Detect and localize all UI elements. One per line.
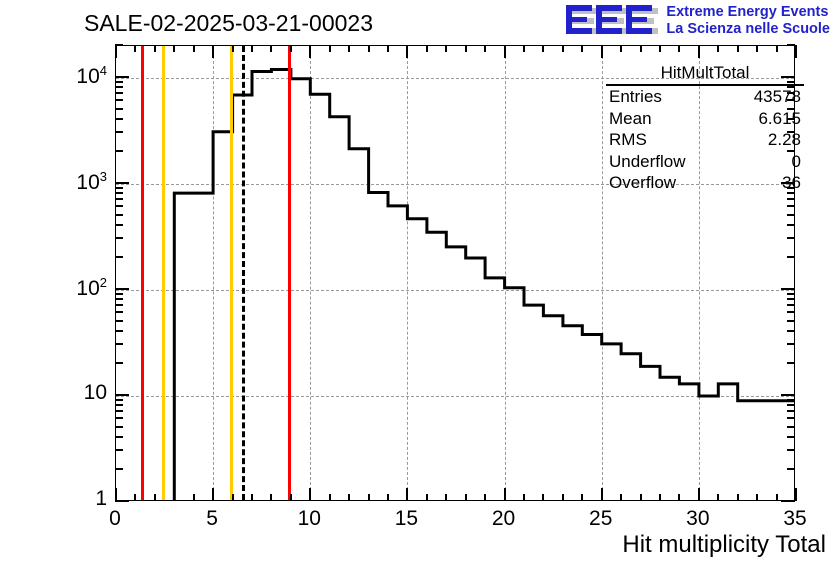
x-tick-minor <box>173 494 175 501</box>
y-tick-minor-right <box>787 404 795 406</box>
x-tick-minor-top <box>678 45 680 52</box>
y-tick-minor <box>115 417 123 419</box>
x-tick-major <box>212 488 214 501</box>
x-tick-major-top <box>406 45 408 58</box>
y-tick-label: 1 <box>95 487 107 511</box>
stats-row-key: RMS <box>609 129 647 151</box>
page-title: SALE-02-2025-03-21-00023 <box>84 10 373 37</box>
x-tick-minor <box>445 494 447 501</box>
y-tick-minor <box>115 436 123 438</box>
x-tick-minor-top <box>368 45 370 52</box>
x-tick-major-top <box>115 45 117 58</box>
stats-row-value: 43578 <box>754 86 801 108</box>
stats-row-value: 36 <box>782 172 801 194</box>
x-tick-minor-top <box>581 45 583 52</box>
x-tick-major-top <box>504 45 506 58</box>
x-tick-minor <box>659 494 661 501</box>
y-tick-label: 102 <box>76 275 107 301</box>
y-tick-minor-right <box>787 304 795 306</box>
stats-row: Mean6.615 <box>606 108 804 130</box>
x-tick-label: 10 <box>298 507 321 531</box>
eee-mark-icon <box>564 3 660 41</box>
y-tick-major <box>115 394 129 396</box>
y-tick-minor-right <box>787 449 795 451</box>
y-tick-major <box>115 182 129 184</box>
y-tick-minor-right <box>787 417 795 419</box>
y-tick-minor <box>115 320 123 322</box>
y-tick-minor <box>115 131 123 133</box>
x-tick-minor-top <box>523 45 525 52</box>
x-tick-minor-top <box>640 45 642 52</box>
stats-row: Underflow0 <box>606 151 804 173</box>
x-tick-major-top <box>698 45 700 58</box>
y-tick-minor <box>115 468 123 470</box>
y-tick-label: 104 <box>76 63 107 89</box>
y-tick-minor <box>115 214 123 216</box>
x-tick-major-top <box>601 45 603 58</box>
y-tick-minor <box>115 330 123 332</box>
x-tick-minor <box>562 494 564 501</box>
y-tick-minor <box>115 237 123 239</box>
y-tick-minor <box>115 399 123 401</box>
stats-row-key: Overflow <box>609 172 676 194</box>
y-tick-major <box>115 76 129 78</box>
y-tick-minor <box>115 86 123 88</box>
x-tick-minor-top <box>290 45 292 52</box>
marker-line-upper-red-cut <box>288 46 291 500</box>
x-tick-minor <box>193 494 195 501</box>
x-tick-minor-top <box>193 45 195 52</box>
stats-histogram-name: HitMultTotal <box>606 63 804 86</box>
x-tick-minor-top <box>562 45 564 52</box>
y-tick-minor <box>115 410 123 412</box>
x-tick-label: 30 <box>686 507 709 531</box>
y-tick-minor-right <box>787 298 795 300</box>
x-tick-minor-top <box>348 45 350 52</box>
x-tick-minor <box>776 494 778 501</box>
eee-logo-line1: Extreme Energy Events <box>666 4 830 21</box>
y-tick-major <box>115 288 129 290</box>
y-tick-label: 103 <box>76 169 107 195</box>
x-tick-label: 25 <box>589 507 612 531</box>
y-tick-minor <box>115 192 123 194</box>
x-tick-minor <box>368 494 370 501</box>
stats-row-key: Underflow <box>609 151 686 173</box>
x-tick-minor-top <box>270 45 272 52</box>
y-tick-minor <box>115 256 123 258</box>
y-tick-minor <box>115 298 123 300</box>
y-tick-minor <box>115 150 123 152</box>
stats-box: HitMultTotal Entries43578Mean6.615RMS2.2… <box>606 63 804 194</box>
x-tick-minor-top <box>173 45 175 52</box>
x-tick-major <box>309 488 311 501</box>
x-tick-minor <box>756 494 758 501</box>
eee-logo-line2: La Scienza nelle Scuole <box>666 21 830 38</box>
x-tick-minor-top <box>542 45 544 52</box>
y-tick-minor <box>115 44 123 46</box>
x-tick-minor <box>678 494 680 501</box>
x-tick-minor-top <box>134 45 136 52</box>
y-tick-minor-right <box>787 256 795 258</box>
stats-row: RMS2.28 <box>606 129 804 151</box>
marker-line-mean-line <box>242 46 245 500</box>
x-tick-minor-top <box>426 45 428 52</box>
stats-row-value: 0 <box>792 151 801 173</box>
x-tick-major <box>698 488 700 501</box>
y-tick-minor <box>115 304 123 306</box>
x-tick-minor-top <box>445 45 447 52</box>
y-tick-minor-right <box>787 237 795 239</box>
y-tick-minor <box>115 224 123 226</box>
x-tick-label: 0 <box>109 507 121 531</box>
x-tick-minor-top <box>717 45 719 52</box>
x-tick-minor <box>523 494 525 501</box>
y-tick-major-right <box>781 394 795 396</box>
x-tick-minor <box>717 494 719 501</box>
y-tick-minor-right <box>787 410 795 412</box>
x-tick-major-top <box>795 45 797 58</box>
x-tick-minor-top <box>465 45 467 52</box>
x-tick-minor <box>465 494 467 501</box>
x-tick-minor-top <box>737 45 739 52</box>
x-tick-minor <box>134 494 136 501</box>
x-tick-minor <box>251 494 253 501</box>
eee-logo-mark <box>564 3 660 41</box>
x-tick-minor-top <box>251 45 253 52</box>
y-tick-minor-right <box>787 436 795 438</box>
y-tick-major <box>115 500 129 502</box>
stats-row-value: 6.615 <box>758 108 801 130</box>
x-tick-minor-top <box>154 45 156 52</box>
y-tick-minor <box>115 343 123 345</box>
eee-logo: Extreme Energy Events La Scienza nelle S… <box>564 3 830 43</box>
stats-row-key: Entries <box>609 86 662 108</box>
y-tick-minor-right <box>787 362 795 364</box>
x-tick-minor-top <box>387 45 389 52</box>
y-tick-minor <box>115 404 123 406</box>
y-tick-minor-right <box>787 44 795 46</box>
x-tick-minor-top <box>756 45 758 52</box>
y-tick-minor <box>115 205 123 207</box>
y-tick-minor <box>115 81 123 83</box>
x-tick-minor <box>484 494 486 501</box>
y-tick-minor <box>115 449 123 451</box>
stats-rows: Entries43578Mean6.615RMS2.28Underflow0Ov… <box>606 86 804 194</box>
y-tick-minor-right <box>787 198 795 200</box>
y-tick-minor <box>115 92 123 94</box>
x-tick-minor <box>270 494 272 501</box>
x-tick-minor-top <box>232 45 234 52</box>
y-tick-minor-right <box>787 293 795 295</box>
stats-row-key: Mean <box>609 108 652 130</box>
y-tick-minor <box>115 198 123 200</box>
x-tick-minor <box>290 494 292 501</box>
x-tick-minor <box>737 494 739 501</box>
y-tick-minor-right <box>787 205 795 207</box>
y-tick-minor-right <box>787 311 795 313</box>
x-tick-label: 20 <box>492 507 515 531</box>
chart-canvas: SALE-02-2025-03-21-00023 <box>0 0 836 572</box>
x-tick-minor <box>426 494 428 501</box>
x-tick-minor-top <box>776 45 778 52</box>
x-tick-minor-top <box>484 45 486 52</box>
y-tick-minor <box>115 293 123 295</box>
x-tick-major-top <box>212 45 214 58</box>
x-tick-minor <box>387 494 389 501</box>
y-tick-minor-right <box>787 214 795 216</box>
y-tick-minor-right <box>787 320 795 322</box>
x-tick-major <box>406 488 408 501</box>
x-tick-minor-top <box>620 45 622 52</box>
x-tick-label: 15 <box>395 507 418 531</box>
y-tick-minor <box>115 118 123 120</box>
x-tick-minor-top <box>659 45 661 52</box>
y-tick-minor-right <box>787 330 795 332</box>
eee-logo-text: Extreme Energy Events La Scienza nelle S… <box>666 3 830 38</box>
x-tick-major <box>504 488 506 501</box>
x-tick-minor <box>329 494 331 501</box>
y-tick-minor <box>115 187 123 189</box>
marker-line-upper-gold-cut <box>230 46 233 500</box>
y-tick-minor <box>115 99 123 101</box>
x-tick-minor <box>581 494 583 501</box>
x-tick-label: 5 <box>206 507 218 531</box>
x-axis-title: Hit multiplicity Total <box>622 531 826 559</box>
y-tick-minor-right <box>787 426 795 428</box>
y-tick-minor-right <box>787 399 795 401</box>
y-tick-minor <box>115 311 123 313</box>
x-tick-major-top <box>309 45 311 58</box>
stats-row-value: 2.28 <box>768 129 801 151</box>
x-tick-major <box>601 488 603 501</box>
marker-line-lower-gold-cut <box>162 46 165 500</box>
x-tick-minor <box>542 494 544 501</box>
y-tick-minor <box>115 362 123 364</box>
x-tick-minor <box>620 494 622 501</box>
y-tick-minor <box>115 426 123 428</box>
x-tick-minor <box>232 494 234 501</box>
x-tick-major <box>795 488 797 501</box>
stats-row: Entries43578 <box>606 86 804 108</box>
x-tick-label: 35 <box>783 507 806 531</box>
y-tick-minor-right <box>787 224 795 226</box>
y-tick-minor <box>115 108 123 110</box>
x-tick-minor <box>154 494 156 501</box>
marker-line-lower-red-cut <box>141 46 144 500</box>
y-tick-label: 10 <box>84 381 107 405</box>
y-tick-major-right <box>781 500 795 502</box>
x-tick-minor <box>348 494 350 501</box>
x-tick-minor-top <box>329 45 331 52</box>
y-tick-minor-right <box>787 343 795 345</box>
stats-row: Overflow36 <box>606 172 804 194</box>
y-tick-major-right <box>781 288 795 290</box>
x-tick-minor <box>640 494 642 501</box>
y-tick-minor-right <box>787 468 795 470</box>
